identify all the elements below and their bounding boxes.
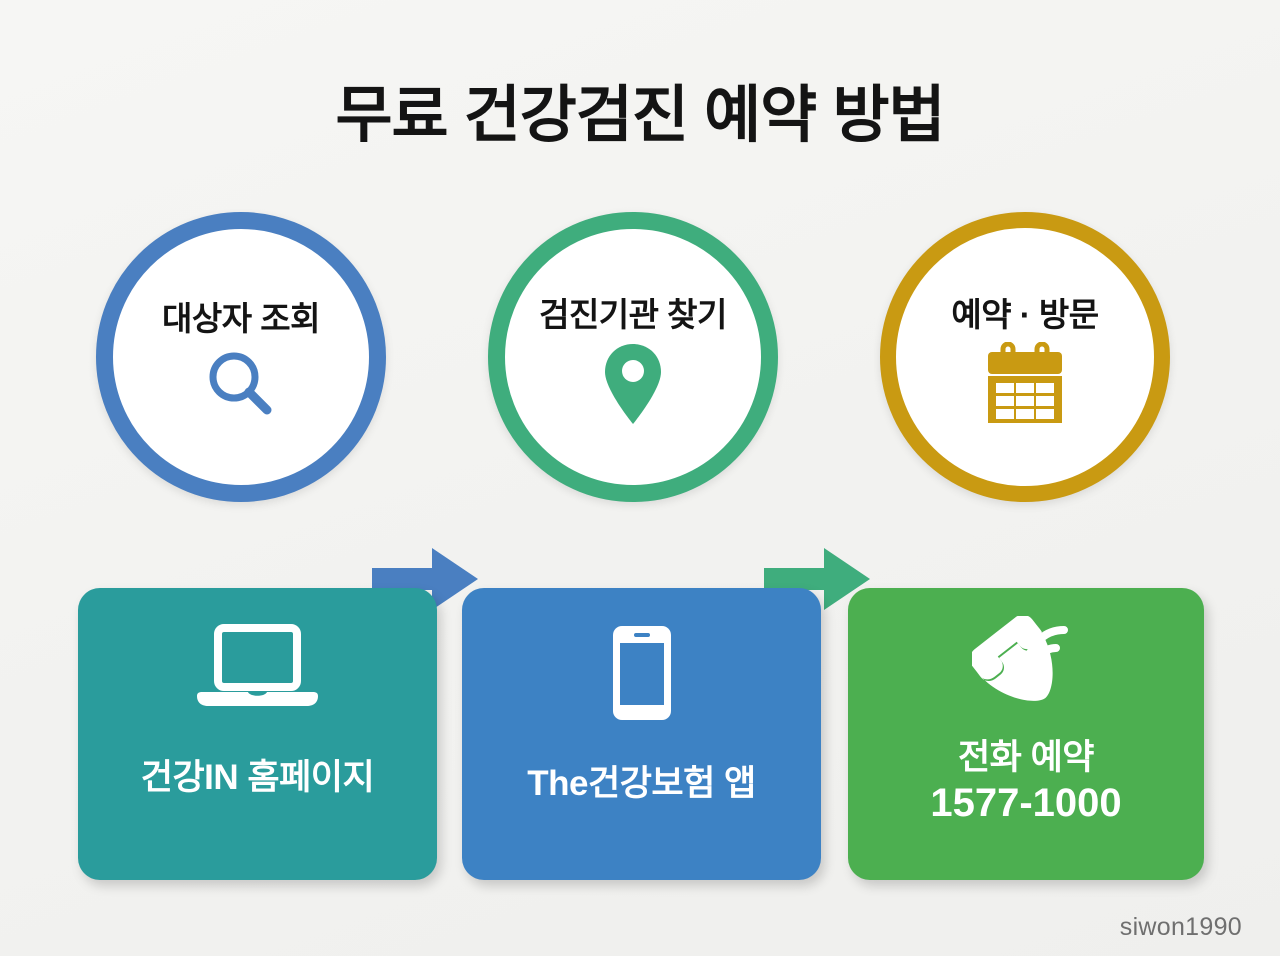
channel-card-mobile-app[interactable]: The건강보험 앱 (462, 588, 821, 880)
channel-label: 건강IN 홈페이지 (141, 758, 374, 798)
step-label: 대상자 조회 (162, 292, 320, 340)
channel-label: 전화 예약 1577-1000 (930, 738, 1121, 826)
step-circle-target-lookup[interactable]: 대상자 조회 (96, 212, 386, 502)
smartphone-icon (611, 624, 673, 722)
channel-phone-number: 1577-1000 (930, 780, 1121, 826)
channel-card-phone[interactable]: 전화 예약 1577-1000 (848, 588, 1204, 880)
channels-row: 건강IN 홈페이지 The건강보험 앱 (0, 588, 1280, 882)
page-title: 무료 건강검진 예약 방법 (0, 64, 1280, 154)
channel-label-line1: 전화 예약 (958, 738, 1094, 777)
calendar-icon (984, 342, 1066, 426)
infographic-canvas: 무료 건강검진 예약 방법 대상자 조회 검진기관 찾기 (0, 0, 1280, 956)
steps-row: 대상자 조회 검진기관 찾기 예약 · 방문 (0, 212, 1280, 522)
magnifier-icon (203, 346, 279, 422)
channel-card-website[interactable]: 건강IN 홈페이지 (78, 588, 437, 880)
step-label: 검진기관 찾기 (539, 288, 727, 336)
watermark: siwon1990 (1120, 913, 1242, 942)
phone-ring-icon (972, 616, 1080, 716)
step-circle-reserve-visit[interactable]: 예약 · 방문 (880, 212, 1170, 502)
step-label: 예약 · 방문 (951, 288, 1098, 336)
step-circle-find-clinic[interactable]: 검진기관 찾기 (488, 212, 778, 502)
map-pin-icon (603, 342, 663, 426)
laptop-icon (195, 624, 320, 714)
channel-label: The건강보험 앱 (527, 764, 755, 804)
